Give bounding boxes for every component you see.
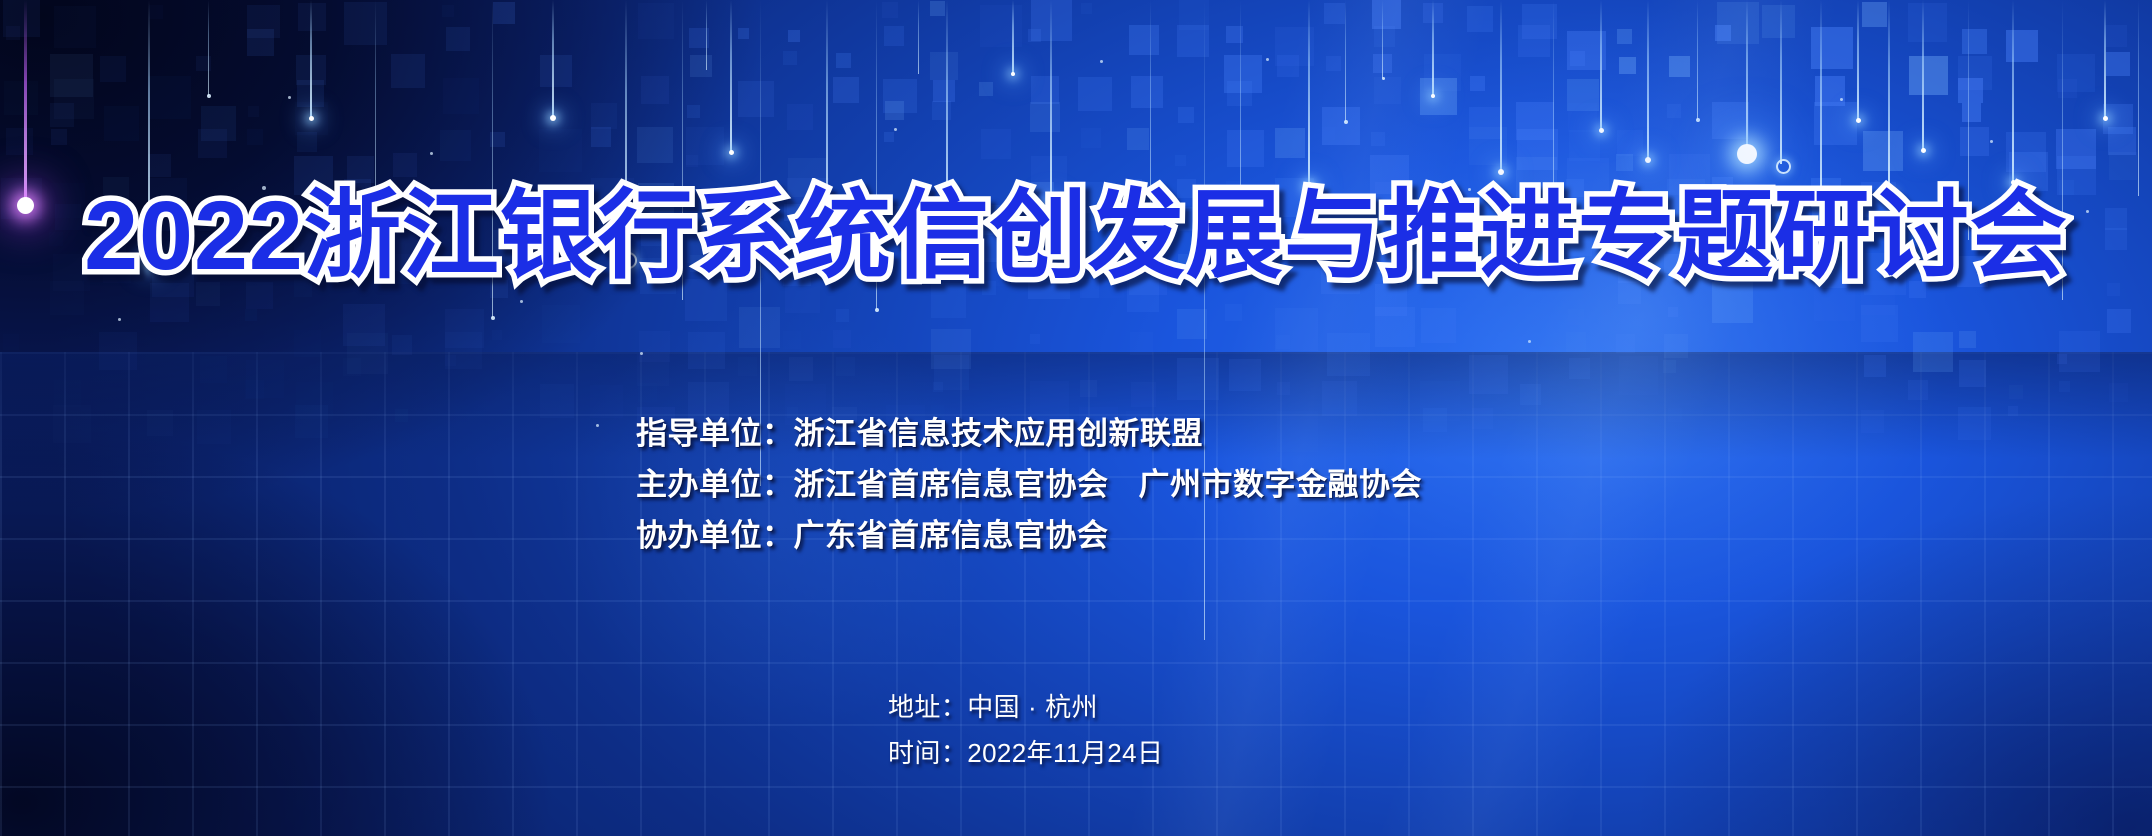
organizer-label: 指导单位：: [636, 416, 794, 451]
location-separator-dot: ·: [1020, 684, 1045, 730]
organizer-value-secondary: 广州市数字金融协会: [1139, 467, 1423, 502]
organizer-label: 协办单位：: [636, 518, 794, 553]
organizer-line-guidance: 指导单位：浙江省信息技术应用创新联盟: [636, 408, 1422, 459]
date-value: 2022年11月24日: [967, 738, 1163, 768]
banner-content: 2022浙江银行系统信创发展与推进专题研讨会 指导单位：浙江省信息技术应用创新联…: [0, 0, 2152, 836]
organizer-line-coorganizer: 协办单位：广东省首席信息官协会: [636, 510, 1422, 561]
organizer-line-host: 主办单位：浙江省首席信息官协会广州市数字金融协会: [636, 459, 1422, 510]
organizer-label: 主办单位：: [636, 467, 794, 502]
organizer-block: 指导单位：浙江省信息技术应用创新联盟 主办单位：浙江省首席信息官协会广州市数字金…: [636, 408, 1422, 561]
organizer-value: 广东省首席信息官协会: [794, 518, 1109, 553]
location-country: 中国: [967, 692, 1020, 722]
location-label: 地址：: [888, 692, 967, 722]
organizer-value: 浙江省信息技术应用创新联盟: [794, 416, 1204, 451]
event-info-block: 地址：中国·杭州 时间：2022年11月24日: [888, 684, 1163, 776]
date-label: 时间：: [888, 738, 967, 768]
organizer-value: 浙江省首席信息官协会: [794, 467, 1109, 502]
event-date-line: 时间：2022年11月24日: [888, 730, 1163, 776]
location-city: 杭州: [1045, 692, 1098, 722]
event-title: 2022浙江银行系统信创发展与推进专题研讨会: [0, 185, 2152, 288]
event-banner: 2022浙江银行系统信创发展与推进专题研讨会 指导单位：浙江省信息技术应用创新联…: [0, 0, 2152, 836]
event-location-line: 地址：中国·杭州: [888, 684, 1163, 730]
